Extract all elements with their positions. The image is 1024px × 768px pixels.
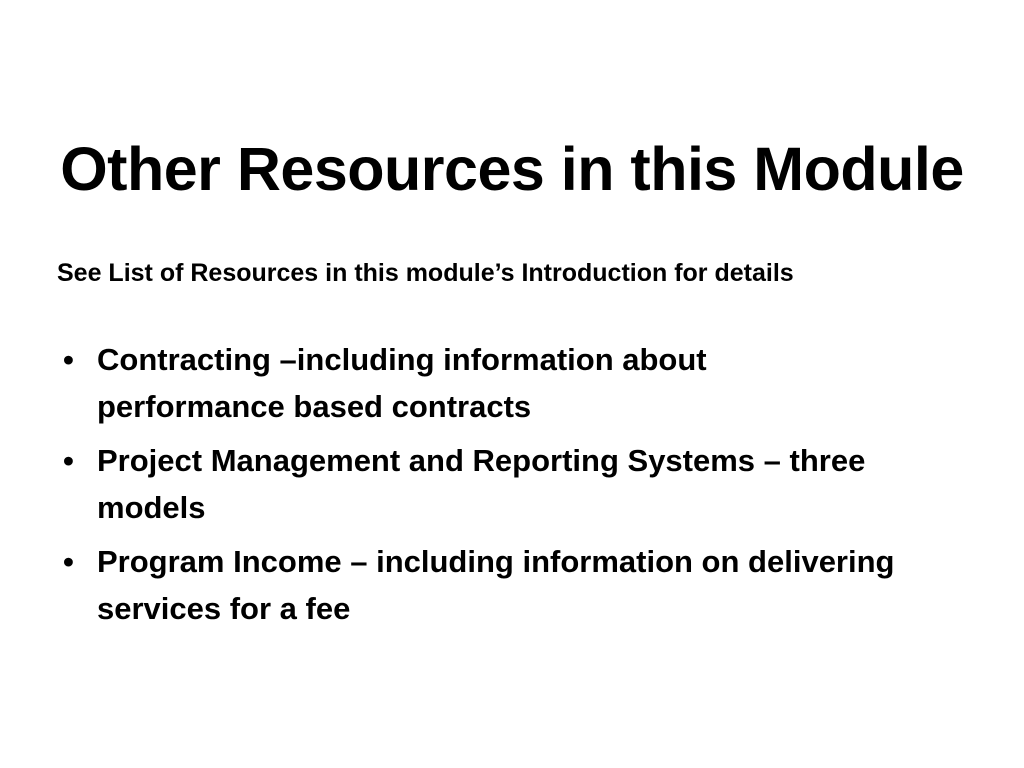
presentation-slide: Other Resources in this Module See List … <box>0 0 1024 768</box>
list-item-label: Program Income – including information o… <box>97 538 897 633</box>
list-item-label: Contracting –including information about… <box>97 336 857 431</box>
list-item: • Program Income – including information… <box>57 538 897 633</box>
list-item: • Project Management and Reporting Syste… <box>57 437 917 532</box>
page-title: Other Resources in this Module <box>0 137 1024 202</box>
bullet-list: • Contracting –including information abo… <box>57 336 917 633</box>
list-item: • Contracting –including information abo… <box>57 336 857 431</box>
slide-subtitle: See List of Resources in this module’s I… <box>57 258 957 288</box>
bullet-point-icon: • <box>63 538 87 585</box>
list-item-label: Project Management and Reporting Systems… <box>97 437 917 532</box>
bullet-point-icon: • <box>63 437 87 484</box>
bullet-point-icon: • <box>63 336 87 383</box>
